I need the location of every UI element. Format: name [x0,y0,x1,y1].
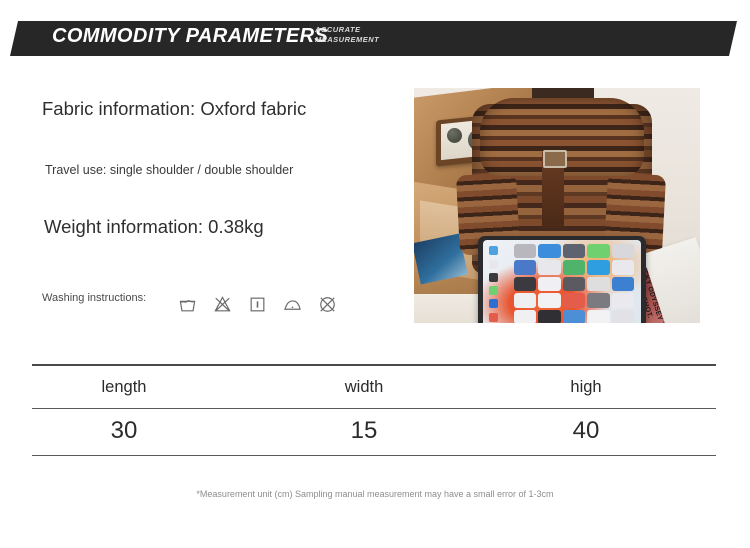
table-value-high: 40 [472,409,700,455]
photo-tablet-app-icon [538,260,560,274]
photo-tablet-dock-icon [489,299,498,308]
photo-tablet-app-icon [563,310,585,323]
do-not-dry-clean-icon [318,295,337,314]
dimensions-table: length width high 30 15 40 [32,364,716,456]
photo-tablet-app-icon [538,277,560,291]
photo-tablet-app-icon [538,310,560,323]
measurement-footnote: *Measurement unit (cm) Sampling manual m… [0,489,750,499]
table-header-length: length [10,366,238,408]
photo-tablet-app-icon [563,244,585,258]
photo-tablet-app-icon [514,244,536,258]
photo-tablet-app-icon [612,260,634,274]
photo-tablet-app-icon [514,277,536,291]
photo-backpack-buckle [543,150,567,168]
table-value-length: 30 [10,409,238,455]
photo-tablet-app-icon [563,260,585,274]
banner-subtitle-line1: ACCURATE [315,25,361,34]
photo-tablet-dock [485,242,502,323]
photo-tablet-app-icon [612,277,634,291]
photo-tablet-app-icon [514,293,536,307]
table-rule-bottom [32,455,716,456]
photo-tablet-app-grid [510,241,638,323]
table-header-row: length width high [32,366,716,408]
photo-tablet-app-icon [587,277,609,291]
photo-tablet-app-icon [587,310,609,323]
drip-dry-icon [248,295,267,314]
banner-subtitle-line2: MEASUREMENT [315,35,379,44]
photo-tablet-dock-icon [489,260,498,269]
photo-tablet-dock-icon [489,313,498,322]
table-header-width: width [250,366,478,408]
care-symbol-row [178,290,338,318]
photo-tablet-dock-icon [489,246,498,255]
table-header-high: high [472,366,700,408]
photo-tablet-app-icon [514,260,536,274]
table-value-width: 15 [250,409,478,455]
photo-tablet-app-icon [612,293,634,307]
iron-low-heat-icon [283,295,302,314]
spec-weight-information: Weight information: 0.38kg [44,216,264,238]
do-not-bleach-icon [213,295,232,314]
spec-travel-use: Travel use: single shoulder / double sho… [45,163,293,177]
photo-tablet-app-icon [612,310,634,323]
header-banner: COMMODITY PARAMETERS ACCURATE MEASUREMEN… [10,21,737,56]
hand-wash-tub-icon [178,295,197,314]
page-title: COMMODITY PARAMETERS [52,25,328,48]
photo-tablet-app-icon [587,244,609,258]
table-value-row: 30 15 40 [32,409,716,455]
photo-tablet-app-icon [563,293,585,307]
photo-radio-knob [447,128,462,143]
photo-tablet-dock-icon [489,286,498,295]
product-photo: LUCKY ODYSSEY TO THE GOD SHOT. [414,88,700,323]
photo-tablet-app-icon [538,293,560,307]
photo-tablet-dock-icon [489,273,498,282]
photo-tablet-app-icon [587,293,609,307]
photo-tablet-app-icon [563,277,585,291]
photo-tablet-app-icon [612,244,634,258]
photo-tablet-app-icon [538,244,560,258]
spec-washing-instructions-label: Washing instructions: [42,292,146,304]
photo-tablet-app-icon [514,310,536,323]
banner-subtitle: ACCURATE MEASUREMENT [315,25,379,44]
photo-tablet-app-icon [587,260,609,274]
spec-fabric-information: Fabric information: Oxford fabric [42,98,306,120]
